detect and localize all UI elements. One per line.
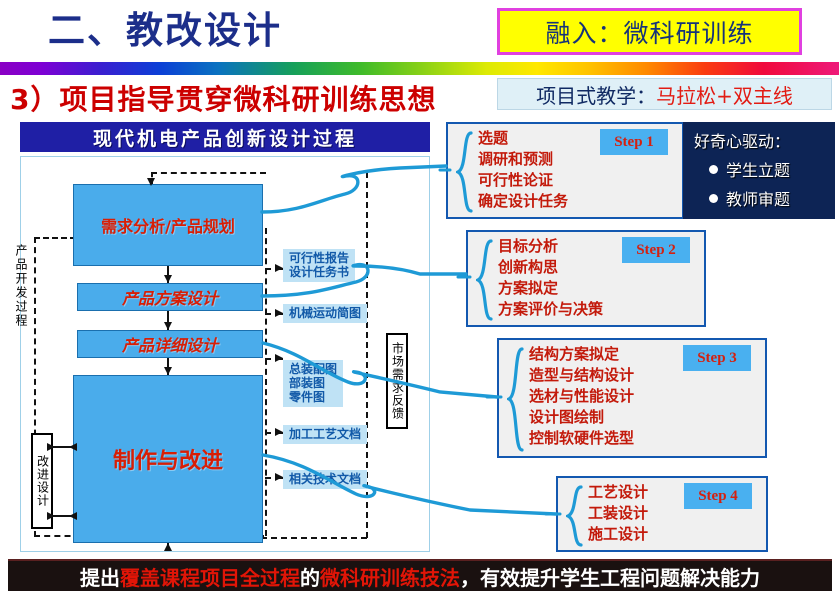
bottom-banner-text: 提出覆盖课程项目全过程的微科研训练技法，有效提升学生工程问题解决能力 — [80, 562, 760, 591]
block-label: 产品详细设计 — [122, 332, 218, 356]
slide-root: 二、教改设计 融入：微科研训练 3）项目指导贯穿微科研训练思想 项目式教学：马拉… — [0, 0, 839, 594]
output-line: 总装配图 — [289, 362, 337, 376]
step-item: 可行性论证 — [478, 170, 678, 191]
block-label: 制作与改进 — [113, 443, 223, 475]
output-line: 加工工艺文档 — [289, 427, 361, 441]
block-label: 产品方案设计 — [122, 285, 218, 309]
teaching-mode-badge: 项目式教学：马拉松+双主线 — [497, 78, 832, 110]
step-card-3[interactable]: 结构方案拟定 造型与结构设计 选材与性能设计 设计图绘制 控制软硬件选型 Ste… — [497, 338, 767, 458]
output-line: 相关技术文档 — [289, 472, 361, 486]
step-2-tag: Step 2 — [622, 237, 690, 263]
curiosity-panel: 好奇心驱动： 学生立题 教师审题 — [683, 122, 835, 219]
step-4-tag: Step 4 — [684, 483, 752, 509]
step-item: 方案评价与决策 — [498, 299, 700, 320]
output-line: 机械运动简图 — [289, 306, 361, 320]
output-line: 设计任务书 — [289, 265, 349, 279]
step-3-tag: Step 3 — [683, 345, 751, 371]
step-card-2[interactable]: 目标分析 创新构思 方案拟定 方案评价与决策 Step 2 — [466, 230, 706, 327]
box-market-feedback: 市场需求反馈 — [386, 333, 408, 429]
step-item: 选材与性能设计 — [529, 386, 761, 407]
curiosity-item-teacher: 教师审题 — [709, 186, 790, 210]
bottom-banner: 提出覆盖课程项目全过程的微科研训练技法，有效提升学生工程问题解决能力 — [8, 559, 832, 591]
block-requirement-analysis[interactable]: 需求分析/产品规划 — [73, 184, 263, 266]
banner-seg-2: 覆盖课程项目全过程 — [120, 566, 300, 590]
block-scheme-design[interactable]: 产品方案设计 — [77, 283, 263, 311]
output-kinematic-diagram: 机械运动简图 — [283, 304, 367, 323]
brace-icon — [566, 484, 584, 548]
diagram-title: 现代机电产品创新设计过程 — [20, 122, 430, 152]
step-card-1[interactable]: 选题 调研和预测 可行性论证 确定设计任务 Step 1 — [446, 122, 684, 219]
step-item: 设计图绘制 — [529, 407, 761, 428]
dashed-line-right-spine — [265, 228, 267, 536]
step-item: 控制软硬件选型 — [529, 428, 761, 449]
output-line: 可行性报告 — [289, 251, 349, 265]
rainbow-divider — [0, 62, 839, 75]
curiosity-item-label: 学生立题 — [726, 161, 790, 180]
page-title: 二、教改设计 — [48, 4, 282, 58]
banner-seg-5: ，有效提升学生工程问题解决能力 — [460, 566, 760, 590]
label-product-development-process: 产品开发过程 — [14, 244, 28, 334]
dashed-line-o4 — [265, 432, 283, 434]
header-badge: 融入：微科研训练 — [497, 8, 802, 55]
output-line: 零件图 — [289, 390, 337, 404]
step-item: 确定设计任务 — [478, 191, 678, 212]
output-feasibility-report: 可行性报告 设计任务书 — [283, 249, 355, 282]
teaching-mode-value: 马拉松+双主线 — [656, 80, 793, 109]
bullet-icon — [709, 194, 718, 203]
brace-icon — [456, 130, 474, 215]
block-make-improve[interactable]: 制作与改进 — [73, 375, 263, 543]
dashed-line-o1 — [265, 268, 283, 270]
teaching-mode-label: 项目式教学： — [536, 80, 656, 109]
step-item: 施工设计 — [588, 524, 762, 545]
bullet-icon — [709, 165, 718, 174]
banner-seg-3: 的 — [300, 566, 320, 590]
output-line: 部装图 — [289, 376, 337, 390]
dashed-line-top-feed — [151, 172, 266, 174]
curiosity-title: 好奇心驱动： — [694, 128, 790, 152]
brace-icon — [507, 346, 525, 454]
dashed-line-o5 — [265, 477, 283, 479]
block-detail-design[interactable]: 产品详细设计 — [77, 330, 263, 358]
dashed-line-o2 — [265, 313, 283, 315]
curiosity-item-student: 学生立题 — [709, 157, 790, 181]
banner-seg-1: 提出 — [80, 566, 120, 590]
output-technical-docs: 相关技术文档 — [283, 470, 367, 489]
section-title: 3）项目指导贯穿微科研训练思想 — [10, 78, 436, 118]
banner-seg-4: 微科研训练技法 — [320, 566, 460, 590]
step-item: 方案拟定 — [498, 278, 700, 299]
output-process-docs: 加工工艺文档 — [283, 425, 367, 444]
curiosity-item-label: 教师审题 — [726, 190, 790, 209]
box-improve-design: 改进设计 — [31, 433, 53, 529]
step-card-4[interactable]: 工艺设计 工装设计 施工设计 Step 4 — [556, 476, 768, 552]
step-1-tag: Step 1 — [600, 129, 668, 155]
dashed-line-outer-left-top — [34, 237, 76, 239]
header-badge-label: 融入：微科研训练 — [545, 14, 753, 50]
output-assembly-drawings: 总装配图 部装图 零件图 — [283, 360, 343, 407]
dashed-line-o3 — [265, 358, 283, 360]
block-label: 需求分析/产品规划 — [101, 213, 235, 237]
brace-icon — [476, 238, 494, 323]
